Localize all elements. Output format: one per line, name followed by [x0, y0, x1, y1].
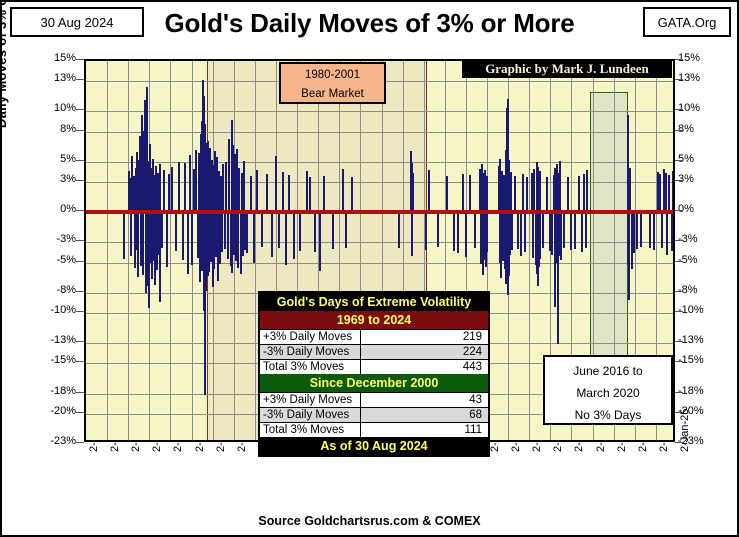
- table-row: -3% Daily Moves 68: [260, 407, 488, 422]
- axis-tick: [76, 59, 84, 60]
- data-bar: [469, 175, 471, 212]
- y-axis-tick-label: -8%: [32, 284, 76, 296]
- axis-tick: [675, 361, 683, 362]
- y-axis-tick-label: 0%: [678, 203, 722, 215]
- y-axis-tick-label: 10%: [678, 102, 722, 114]
- y-axis-tick-label: -15%: [32, 354, 76, 366]
- data-bar: [462, 174, 464, 212]
- data-bar: [586, 170, 588, 212]
- data-bar: [585, 212, 587, 248]
- axis-tick: [675, 130, 683, 131]
- data-bar: [175, 212, 177, 251]
- stats-period1-header: 1969 to 2024: [260, 311, 488, 329]
- data-bar: [182, 212, 184, 259]
- data-bar: [559, 161, 561, 212]
- row-label: Total 3% Moves: [260, 360, 361, 374]
- data-bar: [542, 212, 544, 248]
- data-bar: [171, 167, 173, 212]
- data-bar: [560, 212, 562, 259]
- x-axis-tick-label: 2-Jan-25: [679, 409, 691, 452]
- data-bar: [398, 212, 400, 248]
- data-bar: [437, 212, 439, 247]
- axis-tick: [675, 180, 683, 181]
- data-bar: [411, 212, 413, 255]
- data-bar: [574, 212, 576, 249]
- data-bar: [446, 176, 448, 212]
- data-bar: [130, 212, 132, 255]
- data-bar: [665, 173, 667, 212]
- data-bar: [581, 212, 583, 252]
- y-axis-tick-label: 5%: [678, 153, 722, 165]
- row-label: Total 3% Moves: [260, 423, 361, 437]
- data-bar: [299, 212, 301, 251]
- no-days-line2: March 2020: [545, 382, 671, 404]
- data-bar: [332, 212, 334, 249]
- y-axis-tick-label: -15%: [678, 354, 722, 366]
- axis-tick: [76, 442, 84, 443]
- data-bar: [319, 212, 321, 270]
- y-axis-tick-label: -10%: [678, 304, 722, 316]
- y-axis-tick-label: 3%: [32, 173, 76, 185]
- data-bar: [531, 173, 533, 212]
- y-axis-tick-label: 5%: [32, 153, 76, 165]
- y-axis-tick-label: -8%: [678, 284, 722, 296]
- data-bar: [633, 212, 635, 253]
- data-bar: [673, 212, 675, 248]
- source-caption: Source Goldchartsrus.com & COMEX: [2, 514, 737, 528]
- data-bar: [246, 212, 248, 253]
- data-bar: [453, 212, 455, 251]
- data-bar: [649, 212, 651, 248]
- no-3-percent-days-callout: June 2016 to March 2020 No 3% Days: [543, 355, 673, 425]
- axis-tick: [675, 79, 683, 80]
- table-row: Total 3% Moves 443: [260, 359, 488, 374]
- data-bar: [309, 177, 311, 212]
- bear-market-label-line1: 1980-2001: [281, 66, 384, 85]
- data-bar: [159, 164, 161, 212]
- org-badge: GATA.Org: [643, 7, 731, 37]
- y-axis-tick-label: 13%: [678, 72, 722, 84]
- data-bar: [629, 168, 631, 212]
- data-bar: [511, 212, 513, 250]
- axis-tick: [675, 341, 683, 342]
- axis-tick: [675, 311, 683, 312]
- table-row: -3% Daily Moves 224: [260, 344, 488, 359]
- row-value: 224: [361, 345, 488, 359]
- data-bar: [282, 172, 284, 212]
- axis-tick: [675, 261, 683, 262]
- data-bar: [510, 172, 512, 212]
- y-axis-tick-label: -5%: [678, 254, 722, 266]
- data-bar: [275, 156, 277, 212]
- data-bar: [636, 212, 638, 249]
- data-bar: [161, 212, 163, 248]
- data-bar: [225, 162, 227, 212]
- axis-tick: [76, 130, 84, 131]
- bear-market-label-line2: Bear Market: [281, 85, 384, 104]
- row-value: 219: [361, 330, 488, 344]
- row-label: +3% Daily Moves: [260, 393, 361, 407]
- axis-tick: [76, 392, 84, 393]
- y-axis-tick-label: 8%: [32, 123, 76, 135]
- data-bar: [520, 212, 522, 255]
- data-bar: [671, 212, 673, 251]
- data-bar: [486, 212, 488, 252]
- data-bar: [253, 212, 255, 262]
- table-row: +3% Daily Moves 219: [260, 329, 488, 344]
- zero-reference-line: [84, 210, 675, 214]
- table-row: +3% Daily Moves 43: [260, 392, 488, 407]
- data-bar: [184, 163, 186, 212]
- bear-market-label: 1980-2001 Bear Market: [279, 62, 386, 104]
- y-axis-tick-label: 10%: [32, 102, 76, 114]
- axis-tick: [675, 210, 683, 211]
- y-axis-tick-label: -23%: [32, 435, 76, 447]
- axis-tick: [675, 59, 683, 60]
- axis-tick: [76, 109, 84, 110]
- row-label: +3% Daily Moves: [260, 330, 361, 344]
- data-bar: [563, 212, 565, 248]
- data-bar: [187, 212, 189, 273]
- data-bar: [526, 177, 528, 212]
- y-axis-tick-label: 13%: [32, 72, 76, 84]
- data-bar: [166, 212, 168, 266]
- y-axis-tick-label: 3%: [678, 173, 722, 185]
- data-bar: [189, 155, 191, 212]
- data-bar: [666, 212, 668, 254]
- data-bar: [278, 212, 280, 248]
- data-bar: [222, 164, 224, 212]
- axis-tick: [675, 160, 683, 161]
- data-bar: [570, 212, 572, 250]
- data-bar: [323, 176, 325, 212]
- axis-tick: [76, 311, 84, 312]
- y-axis-tick-label: -3%: [32, 233, 76, 245]
- y-axis-title: Daily Moves of 3% or More: [0, 0, 9, 152]
- axis-tick: [76, 79, 84, 80]
- data-bar: [314, 212, 316, 252]
- axis-tick: [675, 109, 683, 110]
- y-axis-tick-label: 15%: [32, 52, 76, 64]
- axis-tick: [675, 392, 683, 393]
- credit-banner: Graphic by Mark J. Lundeen: [462, 59, 672, 78]
- data-bar: [428, 170, 430, 212]
- stats-period2-header: Since December 2000: [260, 374, 488, 392]
- data-bar: [250, 176, 252, 212]
- axis-tick: [76, 261, 84, 262]
- data-bar: [168, 174, 170, 212]
- y-axis-tick-label: -20%: [32, 405, 76, 417]
- row-value: 111: [361, 423, 488, 437]
- y-axis-tick-label: 8%: [678, 123, 722, 135]
- stats-table: Gold's Days of Extreme Volatility 1969 t…: [258, 291, 490, 457]
- y-axis-tick-label: -10%: [32, 304, 76, 316]
- row-value: 68: [361, 408, 488, 422]
- axis-tick: [675, 291, 683, 292]
- y-axis-tick-label: -13%: [32, 334, 76, 346]
- data-bar: [293, 212, 295, 258]
- y-axis-tick-label: -13%: [678, 334, 722, 346]
- data-bar: [640, 212, 642, 247]
- no-days-line1: June 2016 to: [545, 360, 671, 382]
- data-bar: [532, 212, 534, 257]
- axis-tick: [76, 361, 84, 362]
- org-text: GATA.Org: [658, 15, 717, 30]
- data-bar: [243, 161, 245, 212]
- data-bar: [306, 171, 308, 212]
- stats-table-footer: As of 30 Aug 2024: [260, 437, 488, 455]
- data-bar: [578, 176, 580, 212]
- row-value: 43: [361, 393, 488, 407]
- axis-tick: [76, 341, 84, 342]
- data-bar: [163, 170, 165, 212]
- data-bar: [514, 176, 516, 212]
- y-axis-tick-label: -3%: [678, 233, 722, 245]
- data-bar: [583, 174, 585, 212]
- data-bar: [546, 177, 548, 212]
- data-bar: [285, 212, 287, 264]
- data-bar: [567, 177, 569, 212]
- axis-tick: [76, 291, 84, 292]
- data-bar: [224, 212, 226, 249]
- axis-tick: [76, 210, 84, 211]
- data-bar: [345, 212, 347, 248]
- data-bar: [653, 212, 655, 250]
- page-title: Gold's Daily Moves of 3% or More: [2, 8, 737, 39]
- axis-tick: [76, 180, 84, 181]
- data-bar: [661, 212, 663, 248]
- row-label: -3% Daily Moves: [260, 345, 361, 359]
- data-bar: [123, 212, 125, 258]
- data-bar: [412, 173, 414, 212]
- table-row: Total 3% Moves 111: [260, 422, 488, 437]
- data-bar: [474, 212, 476, 248]
- data-bar: [288, 175, 290, 212]
- chart-page: 30 Aug 2024 Gold's Daily Moves of 3% or …: [0, 0, 739, 537]
- data-bar: [659, 174, 661, 212]
- data-bar: [672, 171, 674, 212]
- data-bar: [486, 176, 488, 212]
- axis-tick: [76, 240, 84, 241]
- axis-tick: [76, 160, 84, 161]
- data-bar: [195, 150, 197, 212]
- no-days-line3: No 3% Days: [545, 404, 671, 426]
- row-value: 443: [361, 360, 488, 374]
- data-bar: [178, 162, 180, 212]
- stats-table-title: Gold's Days of Extreme Volatility: [260, 293, 488, 311]
- data-bar: [342, 169, 344, 212]
- row-label: -3% Daily Moves: [260, 408, 361, 422]
- y-axis-tick-label: -18%: [32, 385, 76, 397]
- data-bar: [668, 175, 670, 212]
- data-bar: [465, 212, 467, 256]
- data-bar: [524, 212, 526, 252]
- axis-tick: [76, 412, 84, 413]
- y-axis-tick-label: 15%: [678, 52, 722, 64]
- data-bar: [517, 212, 519, 249]
- data-bar: [271, 212, 273, 256]
- y-axis-tick-label: -5%: [32, 254, 76, 266]
- data-bar: [191, 212, 193, 264]
- data-bar: [425, 212, 427, 250]
- data-bar: [261, 212, 263, 247]
- data-bar: [266, 174, 268, 212]
- y-axis-tick-label: 0%: [32, 203, 76, 215]
- data-bar: [539, 171, 541, 212]
- data-bar: [522, 174, 524, 212]
- data-bar: [457, 212, 459, 253]
- data-bar: [256, 170, 258, 212]
- axis-tick: [675, 240, 683, 241]
- y-axis-tick-label: -18%: [678, 385, 722, 397]
- data-bar: [351, 177, 353, 212]
